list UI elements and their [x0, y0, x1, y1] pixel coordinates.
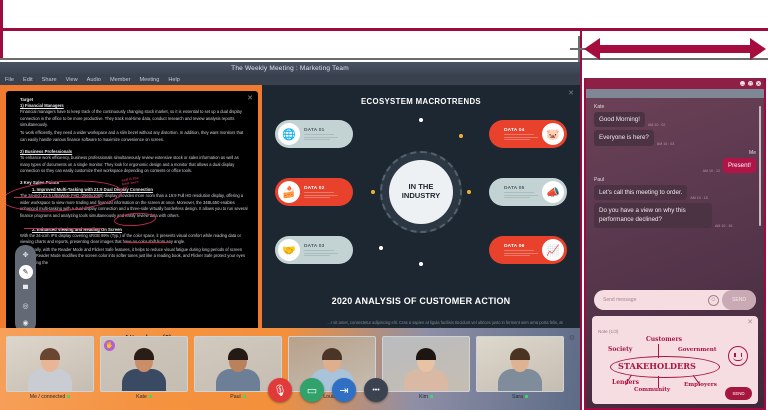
app-menubar: FileEditShareViewAudioMemberMeetingHelp — [0, 74, 580, 85]
ink-arrow-down — [658, 376, 659, 388]
hub-line-2: INDUSTRY — [402, 192, 441, 201]
chat-timestamp: AM 10 : 16 — [715, 224, 732, 228]
chat-bubble: Good Morning! — [594, 112, 645, 127]
infographic-bubble-data-01[interactable]: 🌐DATA 01 — [275, 120, 353, 148]
note-send-button[interactable]: SEND — [725, 387, 752, 400]
close-icon[interactable]: ✕ — [747, 318, 753, 326]
chat-timestamp: AM 10 : 03 — [657, 142, 674, 146]
menu-item-help[interactable]: Help — [168, 77, 180, 83]
hub-dot-left — [371, 190, 375, 194]
bubble-text-line — [504, 195, 538, 196]
bubble-icon-data-02: 🍰 — [278, 181, 300, 203]
shape-tool[interactable]: ◎ — [19, 299, 33, 313]
document-section1-p1: Financial managers have to keep track of… — [20, 109, 248, 129]
bubble-label: DATA 05 — [504, 186, 538, 191]
infographic-bubble-data-05[interactable]: 📣DATA 05 — [489, 178, 567, 206]
bubble-text-line — [504, 134, 534, 135]
bubble-icon-data-05: 📣 — [542, 181, 564, 203]
bubble-text-line — [504, 253, 538, 254]
screenshot-root: The Weekly Meeting : Marketing Team File… — [0, 0, 768, 410]
hub-dot-bottom-left — [379, 246, 383, 250]
chat-timestamp: AM 10 : 12 — [703, 169, 720, 173]
attendee-name-text: Me / connected — [30, 394, 65, 400]
meeting-control-bar[interactable]: 🎙▭⇥••• — [262, 370, 580, 410]
bubble-text-line — [304, 192, 334, 193]
bubble-icon-data-04: 🐷 — [542, 123, 564, 145]
app-titlebar: The Weekly Meeting : Marketing Team — [0, 62, 580, 74]
document-heading: Target — [20, 97, 248, 102]
annotation-right-rule — [580, 28, 582, 410]
chat-message-row: Everyone is here?AM 10 : 03 — [594, 130, 756, 145]
infographic-bubble-data-03[interactable]: 🤝DATA 03 — [275, 236, 353, 264]
document-section1-title: 1) Financial Managers — [20, 103, 248, 108]
pen-tool[interactable]: ✎ — [19, 265, 33, 279]
bubble-text-line — [304, 195, 338, 196]
infographic-hub-label: IN THE INDUSTRY — [389, 160, 453, 224]
meeting-stage: ✕ Target 1) Financial Managers Financial… — [0, 85, 580, 338]
emoji-icon[interactable]: ☺ — [708, 295, 719, 306]
chat-message-row: Good Morning!AM 10 : 02 — [594, 112, 756, 127]
bubble-text: DATA 01 — [300, 128, 342, 139]
bubble-icon-data-03: 🤝 — [278, 239, 300, 261]
document-point2-body2: Additionally, with the Reader Mode and F… — [20, 247, 248, 267]
bubble-icon-data-01: 🌐 — [278, 123, 300, 145]
gear-icon[interactable]: ⚙ — [569, 334, 575, 342]
ink-smiley-icon — [728, 346, 748, 366]
chat-sender-name: Kate — [594, 104, 756, 110]
bubble-text-line — [304, 139, 330, 140]
attendee-video — [6, 336, 94, 392]
annotation-toolstrip[interactable]: ✥✎▀◎◉ — [15, 245, 36, 333]
presentation-slide-pane: ✕ ECOSYSTEM MACROTRENDS IN THE INDUSTRY — [262, 85, 580, 338]
ink-word-bottom-right: Employers — [684, 382, 717, 388]
chat-message-row: AM 10 : 12Present! — [594, 158, 756, 173]
document-point1-title: 1. Improved Multi-Tasking with 21:9 Dual… — [32, 187, 248, 192]
infographic-bubble-data-02[interactable]: 🍰DATA 02 — [275, 178, 353, 206]
bubble-icon-data-06: 📈 — [542, 239, 564, 261]
bubble-text: DATA 03 — [300, 244, 342, 255]
document-section2-title: 2) Business Professionals — [20, 149, 248, 154]
bubble-text: DATA 02 — [300, 186, 342, 197]
bubble-text-line — [504, 192, 534, 193]
online-status-icon — [243, 395, 246, 398]
chat-send-button[interactable]: SEND — [722, 290, 756, 310]
bubble-label: DATA 06 — [504, 244, 538, 249]
bubble-text-line — [504, 255, 530, 256]
window-button-close[interactable]: ✕ — [756, 81, 761, 86]
eraser-tool[interactable]: ▀ — [19, 282, 33, 296]
attendee-name-text: Kate — [136, 394, 147, 400]
document-sheet: ✕ Target 1) Financial Managers Financial… — [6, 91, 258, 334]
bubble-text-line — [304, 137, 338, 138]
menu-item-member[interactable]: Member — [110, 77, 131, 83]
chat-sender-name: Paul — [594, 177, 756, 183]
ink-word-bottom-center: Community — [634, 387, 670, 393]
bubble-text-line — [504, 137, 538, 138]
close-icon[interactable]: ✕ — [247, 94, 253, 102]
ink-word-left: Society — [608, 346, 632, 353]
note-header: Note (1/3) — [598, 329, 618, 334]
menu-item-edit[interactable]: Edit — [23, 77, 33, 83]
app-title: The Weekly Meeting : Marketing Team — [231, 65, 349, 72]
raise-hand-icon: 🖐 — [104, 340, 115, 351]
chat-bubble: Let's call this meeting to order. — [594, 185, 687, 200]
document-point2-body: With the 34-icnh IPS display covering sR… — [20, 233, 248, 246]
bubble-text-line — [304, 134, 334, 135]
arrow-shaft — [598, 45, 752, 53]
attendee-name: Kate — [100, 394, 188, 400]
document-section1-p2: To work efficiently, they need a wider w… — [20, 130, 248, 143]
attendee-name-text: Paul — [230, 394, 240, 400]
chat-timestamp: AM 10 : 15 — [690, 196, 707, 200]
chat-message-group: MeAM 10 : 12Present! — [594, 150, 756, 173]
camera-button[interactable]: ▭ — [300, 378, 324, 402]
chat-message-group: PaulLet's call this meeting to order.AM … — [594, 177, 756, 228]
attendee-avatar — [7, 337, 93, 391]
chat-panel: —▢✕ KateGood Morning!AM 10 : 02Everyone … — [584, 78, 766, 410]
chat-timestamp: AM 10 : 02 — [648, 123, 665, 127]
menu-item-file[interactable]: File — [5, 77, 14, 83]
ink-word-top: Customers — [646, 336, 682, 343]
chat-sender-name: Me — [594, 150, 756, 156]
bubble-text: DATA 05 — [500, 186, 542, 197]
ink-arrow-up — [658, 344, 659, 358]
attendee-tile[interactable]: 🖐Kate — [100, 336, 188, 400]
bubble-text: DATA 06 — [500, 244, 542, 255]
bubble-text-line — [504, 139, 530, 140]
note-card: Note (1/3) ✕ STAKEHOLDERS Customers Soci… — [592, 316, 758, 404]
menu-item-meeting[interactable]: Meeting — [139, 77, 159, 83]
menu-item-audio[interactable]: Audio — [87, 77, 101, 83]
chat-message-list: KateGood Morning!AM 10 : 02Everyone is h… — [586, 98, 764, 294]
hub-dot-top — [419, 118, 423, 122]
mic-button[interactable]: 🎙 — [268, 378, 292, 402]
close-icon[interactable]: ✕ — [568, 89, 574, 97]
ink-word-center: STAKEHOLDERS — [618, 361, 696, 371]
document-section2-p1: To enhance work efficiency, business pro… — [20, 155, 248, 175]
annotation-top-rule — [0, 28, 768, 31]
attendee-tile[interactable]: Me / connected — [6, 336, 94, 400]
chat-composer[interactable]: Send message ☺ SEND — [594, 290, 756, 310]
online-status-icon — [67, 395, 70, 398]
hub-dot-right — [467, 190, 471, 194]
hub-dot-top-right — [459, 134, 463, 138]
shared-document-pane: ✕ Target 1) Financial Managers Financial… — [0, 85, 262, 338]
bubble-text-line — [504, 197, 530, 198]
bubble-text-line — [304, 250, 334, 251]
bubble-label: DATA 01 — [304, 128, 338, 133]
window-button-minimize[interactable]: — — [740, 81, 745, 86]
conference-app-window: The Weekly Meeting : Marketing Team File… — [0, 62, 580, 410]
infographic-hub: IN THE INDUSTRY — [380, 151, 462, 233]
bubble-text-line — [304, 255, 330, 256]
chat-message-row: Do you have a view on why this performan… — [594, 203, 756, 228]
chat-input[interactable]: Send message — [603, 297, 708, 303]
bubble-text-line — [304, 197, 330, 198]
ecosystem-infographic: IN THE INDUSTRY 🌐DATA 01🍰DATA 02🤝DATA 03… — [275, 112, 567, 272]
slide-footer: 2020 ANALYSIS OF CUSTOMER ACTION — [262, 296, 580, 306]
window-button-maximize[interactable]: ▢ — [748, 81, 753, 86]
bubble-text: DATA 04 — [500, 128, 542, 139]
document-point1-body: The 34-inch 21:9 UltraWide FHD (2560x108… — [20, 193, 248, 220]
arrow-head-right-icon — [750, 38, 766, 60]
more-button[interactable]: ••• — [364, 378, 388, 402]
bubble-text-line — [504, 250, 534, 251]
chat-bubble: Do you have a view on why this performan… — [594, 203, 712, 228]
slide-title: ECOSYSTEM MACROTRENDS — [361, 97, 481, 106]
attendee-video: 🖐 — [100, 336, 188, 392]
chat-message-row: Let's call this meeting to order.AM 10 :… — [594, 185, 756, 200]
share-button[interactable]: ⇥ — [332, 378, 356, 402]
document-point2-title: 2. Enhanced Viewing and Reading On Scree… — [32, 227, 248, 232]
menu-item-share[interactable]: Share — [42, 77, 57, 83]
infographic-bubble-data-04[interactable]: 🐷DATA 04 — [489, 120, 567, 148]
infographic-bubble-data-06[interactable]: 📈DATA 06 — [489, 236, 567, 264]
width-measure-arrow — [584, 38, 766, 60]
attendee-name: Me / connected — [6, 394, 94, 400]
menu-item-view[interactable]: View — [66, 77, 78, 83]
chat-message-group: KateGood Morning!AM 10 : 02Everyone is h… — [594, 104, 756, 146]
bubble-label: DATA 03 — [304, 244, 338, 249]
online-status-icon — [149, 395, 152, 398]
chat-titlebar: —▢✕ — [586, 78, 764, 89]
chat-scrollbar[interactable] — [759, 106, 761, 226]
move-tool[interactable]: ✥ — [19, 248, 33, 262]
chat-bubble: Everyone is here? — [594, 130, 654, 145]
ink-word-right: Government — [678, 347, 716, 353]
hub-dot-bottom — [419, 262, 423, 266]
bubble-label: DATA 02 — [304, 186, 338, 191]
bubble-text-line — [304, 253, 338, 254]
bubble-label: DATA 04 — [504, 128, 538, 133]
chat-bubble: Present! — [723, 158, 756, 173]
chat-subbar — [586, 89, 764, 98]
